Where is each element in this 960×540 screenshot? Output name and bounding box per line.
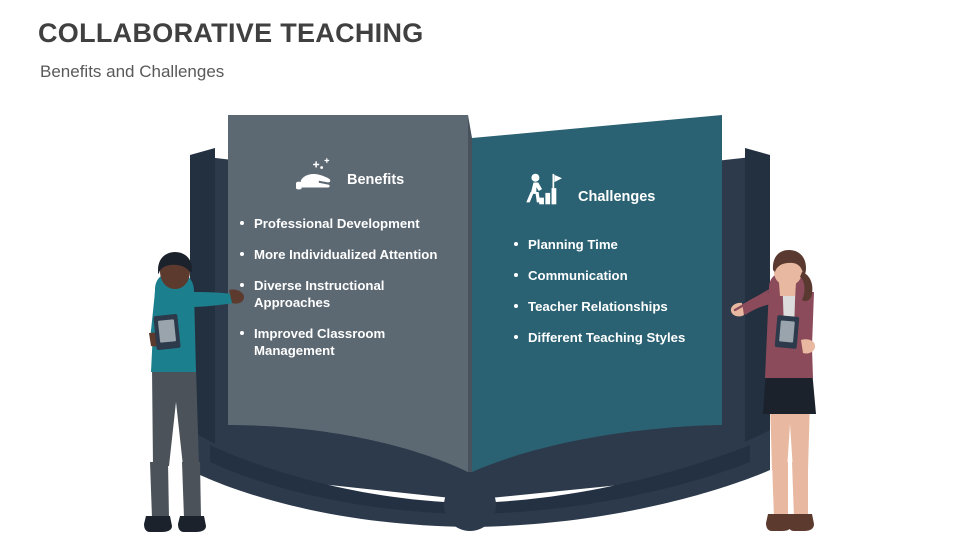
benefits-list: Professional Development More Individual…: [238, 215, 453, 373]
list-item: Improved Classroom Management: [238, 325, 453, 359]
list-item: More Individualized Attention: [238, 246, 453, 263]
list-item: Different Teaching Styles: [512, 329, 712, 346]
list-item: Communication: [512, 267, 712, 284]
list-item: Diverse Instructional Approaches: [238, 277, 453, 311]
list-item: Teacher Relationships: [512, 298, 712, 315]
challenges-list: Planning Time Communication Teacher Rela…: [512, 236, 712, 360]
book-spine-crease: [468, 115, 472, 472]
benefits-heading: Benefits: [347, 172, 404, 188]
list-item: Professional Development: [238, 215, 453, 232]
challenges-heading: Challenges: [578, 189, 655, 205]
slide-canvas: COLLABORATIVE TEACHING Benefits and Chal…: [0, 0, 960, 540]
list-item: Planning Time: [512, 236, 712, 253]
open-book-illustration: [0, 0, 960, 540]
